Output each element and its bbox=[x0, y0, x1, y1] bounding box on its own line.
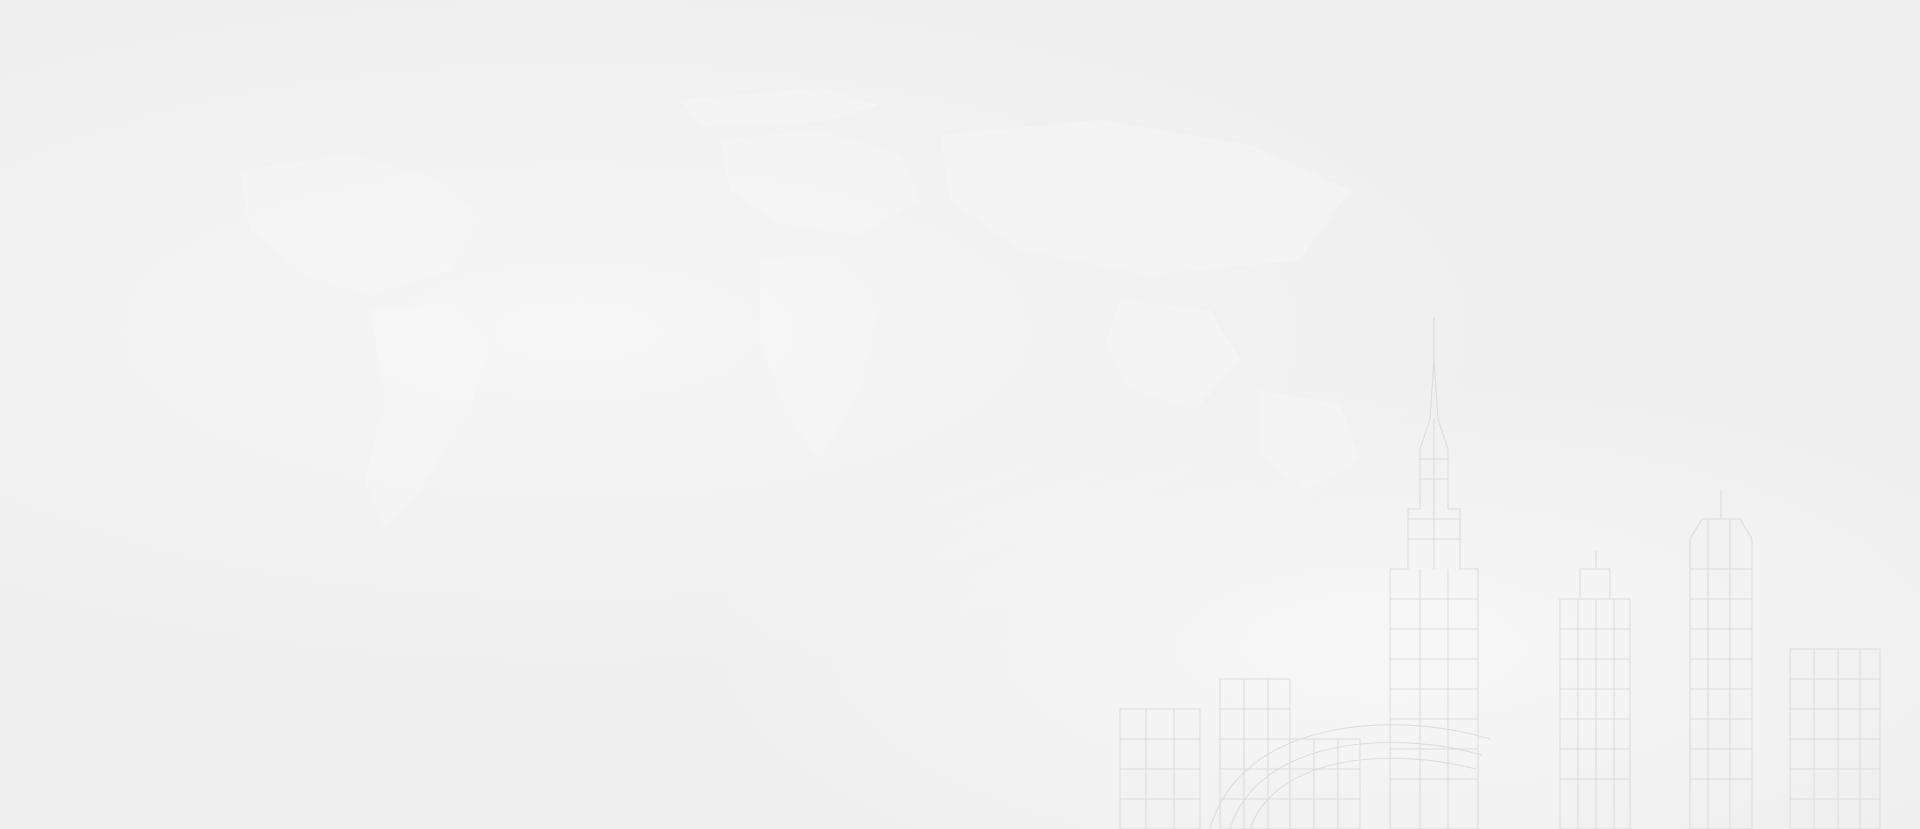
timeline-zigzag-chart bbox=[0, 0, 1920, 829]
infographic-canvas bbox=[0, 0, 1920, 829]
